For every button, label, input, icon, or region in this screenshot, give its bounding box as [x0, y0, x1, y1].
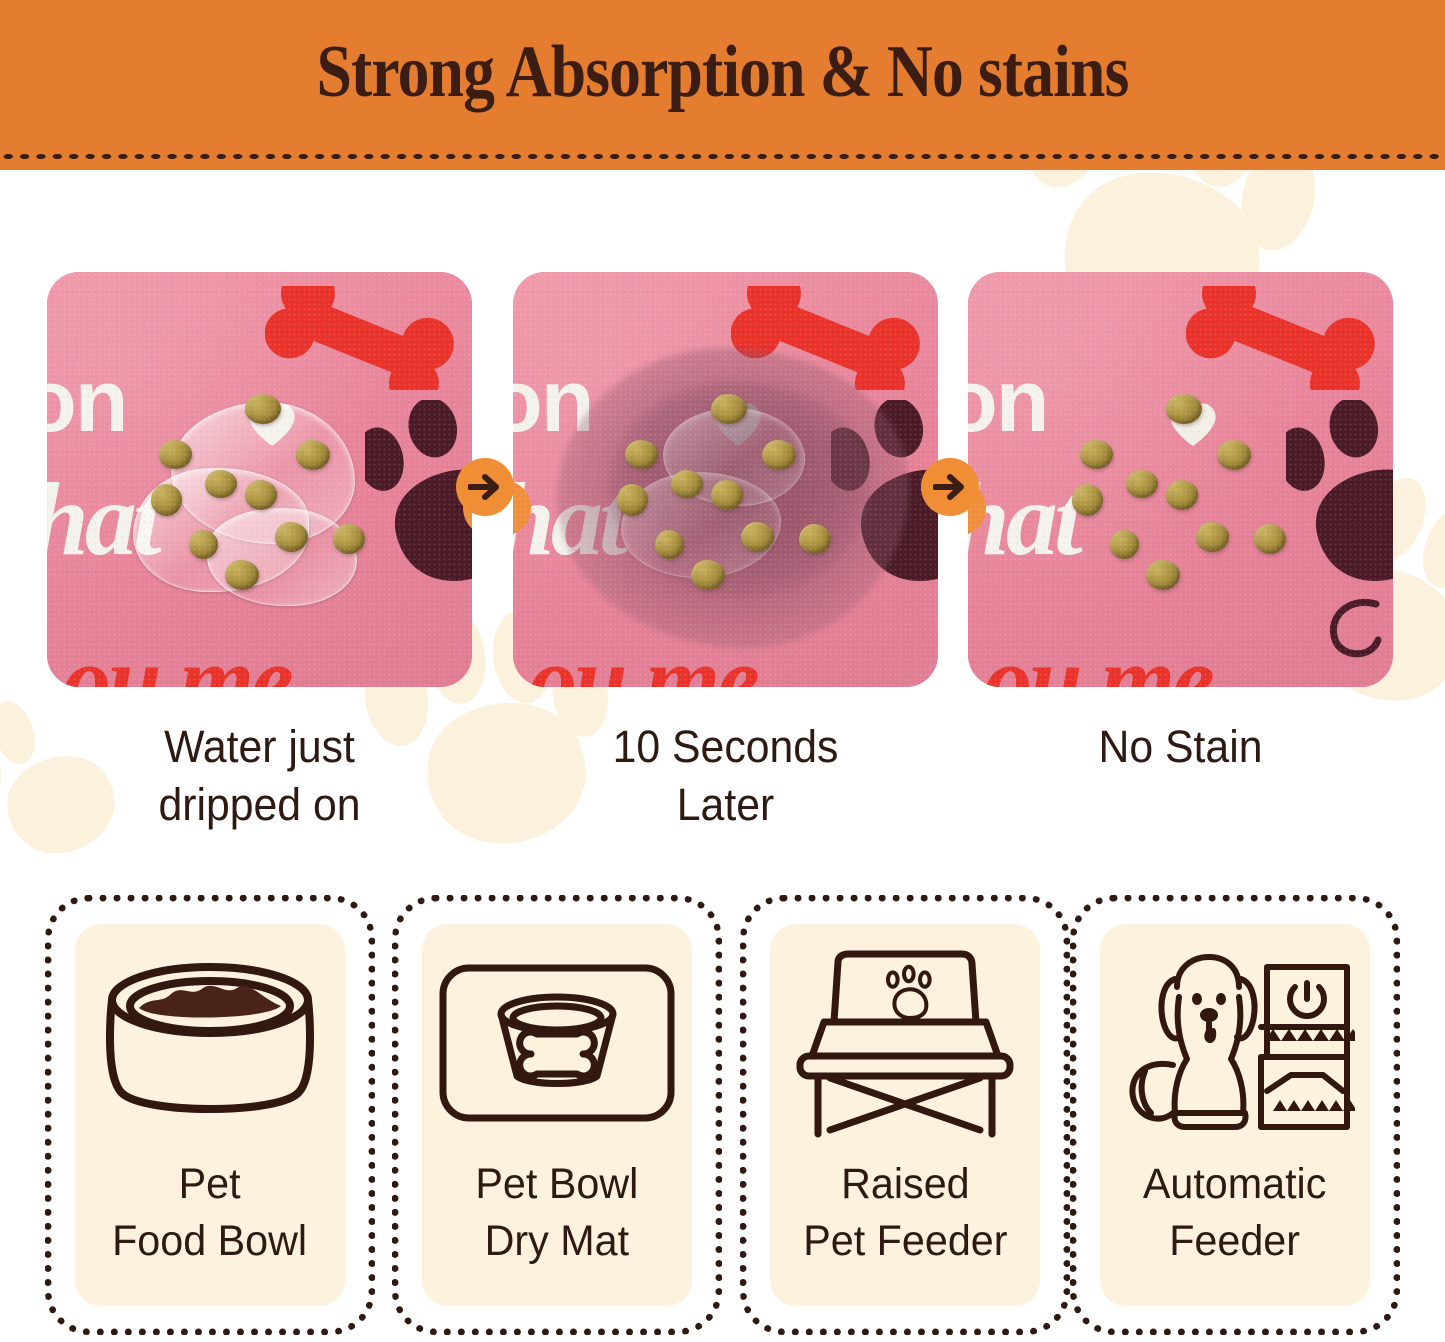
- card-label-line: Pet Feeder: [803, 1213, 1007, 1270]
- comparison-photo-1: on hat ou me: [47, 272, 472, 687]
- card-label-line: Food Bowl: [112, 1213, 307, 1270]
- compat-card-pet-food-bowl[interactable]: Pet Food Bowl: [45, 895, 375, 1335]
- arrow-right-icon: [921, 458, 979, 516]
- fabric-texture: [968, 272, 1393, 687]
- automatic-feeder-icon: [1100, 938, 1370, 1148]
- photo-caption-3: No Stain: [979, 718, 1383, 776]
- compat-card-automatic-feeder[interactable]: Automatic Feeder: [1070, 895, 1400, 1335]
- card-label-line: Raised: [803, 1156, 1007, 1213]
- pet-food-bowl-icon: [75, 938, 345, 1148]
- raised-pet-feeder-icon: [770, 938, 1040, 1148]
- card-label-line: Feeder: [1143, 1213, 1327, 1270]
- caption-line: Later: [524, 776, 928, 834]
- caption-line: dripped on: [58, 776, 462, 834]
- arrow-right-icon: [456, 458, 514, 516]
- compat-card-pet-bowl-dry-mat[interactable]: Pet Bowl Dry Mat: [392, 895, 722, 1335]
- pet-bowl-dry-mat-icon: [422, 938, 692, 1148]
- card-inner-panel: Pet Food Bowl: [75, 924, 345, 1306]
- page-title: Strong Absorption & No stains: [101, 30, 1344, 115]
- caption-line: No Stain: [979, 718, 1383, 776]
- card-inner-panel: Pet Bowl Dry Mat: [422, 924, 692, 1306]
- header-banner: Strong Absorption & No stains: [0, 0, 1445, 170]
- card-label: Pet Food Bowl: [112, 1156, 307, 1270]
- compat-card-raised-pet-feeder[interactable]: Raised Pet Feeder: [740, 895, 1070, 1335]
- card-label: Pet Bowl Dry Mat: [476, 1156, 639, 1270]
- fabric-texture: [513, 272, 938, 687]
- card-inner-panel: Raised Pet Feeder: [770, 924, 1040, 1306]
- card-label-line: Pet Bowl: [476, 1156, 639, 1213]
- card-label-line: Automatic: [1143, 1156, 1327, 1213]
- card-label-line: Pet: [112, 1156, 307, 1213]
- pet-mat-photo: on hat ou me: [47, 272, 472, 687]
- absorption-comparison-strip: on hat ou me: [0, 170, 1445, 910]
- card-label: Raised Pet Feeder: [803, 1156, 1007, 1270]
- compatibility-cards-row: Pet Food Bowl Pet Bowl: [0, 895, 1445, 1342]
- comparison-photo-2: on hat ou me: [513, 272, 938, 687]
- card-label-line: Dry Mat: [476, 1213, 639, 1270]
- card-label: Automatic Feeder: [1143, 1156, 1327, 1270]
- header-dotted-divider: [0, 152, 1445, 161]
- fabric-texture: [47, 272, 472, 687]
- card-inner-panel: Automatic Feeder: [1100, 924, 1370, 1306]
- pet-mat-photo: on hat ou me: [968, 272, 1393, 687]
- caption-line: Water just: [58, 718, 462, 776]
- caption-line: 10 Seconds: [524, 718, 928, 776]
- photo-caption-2: 10 Seconds Later: [524, 718, 928, 833]
- photo-caption-1: Water just dripped on: [58, 718, 462, 833]
- pet-mat-photo: on hat ou me: [513, 272, 938, 687]
- comparison-photo-3: on hat ou me: [968, 272, 1393, 687]
